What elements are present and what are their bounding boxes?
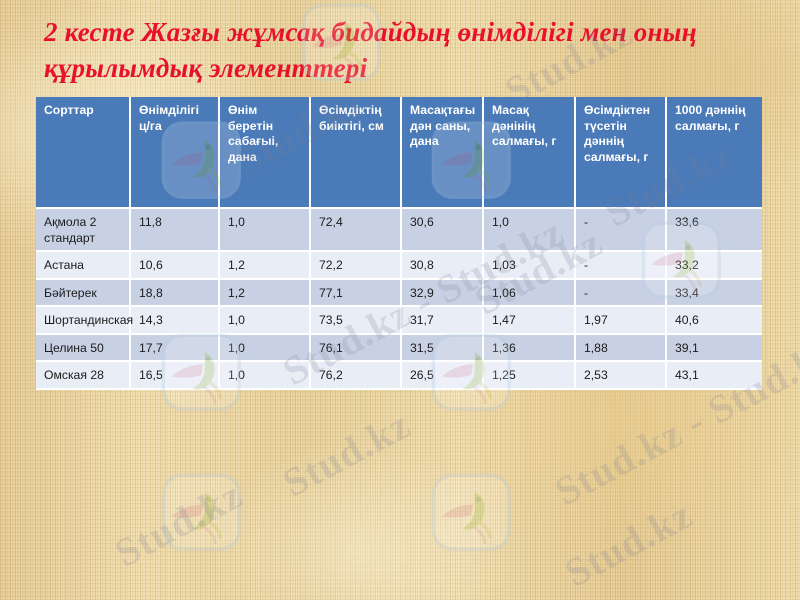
table-cell: 1,06 — [484, 280, 576, 308]
table-body: Ақмола 2 стандарт11,81,072,430,61,0-33,6… — [36, 209, 762, 390]
table-cell: 33,4 — [667, 280, 762, 308]
table-cell: 30,8 — [402, 252, 484, 280]
table-cell: 1,0 — [220, 362, 311, 390]
table-row: Ақмола 2 стандарт11,81,072,430,61,0-33,6 — [36, 209, 762, 252]
column-header-4: Масақтағы дән саны, дана — [402, 97, 484, 209]
table-cell: 76,2 — [311, 362, 402, 390]
cell-variety-name: Астана — [36, 252, 131, 280]
column-header-0: Сорттар — [36, 97, 131, 209]
column-header-2: Өнім беретін сабағыі, дана — [220, 97, 311, 209]
table-cell: 10,6 — [131, 252, 220, 280]
table-cell: 72,2 — [311, 252, 402, 280]
table-cell: 33,2 — [667, 252, 762, 280]
page-title: 2 кесте Жазғы жұмсақ бидайдың өнімділігі… — [44, 14, 764, 86]
table-cell: - — [576, 209, 667, 252]
table-head: СорттарӨнімділігі ц/гаӨнім беретін сабағ… — [36, 97, 762, 209]
table-row: Шортандинская14,31,073,531,71,471,9740,6 — [36, 307, 762, 335]
table-cell: 18,8 — [131, 280, 220, 308]
cell-variety-name: Ақмола 2 стандарт — [36, 209, 131, 252]
table-header-row: СорттарӨнімділігі ц/гаӨнім беретін сабағ… — [36, 97, 762, 209]
table-cell: 11,8 — [131, 209, 220, 252]
table-cell: 32,9 — [402, 280, 484, 308]
cell-variety-name: Шортандинская — [36, 307, 131, 335]
table-row: Целина 5017,71,076,131,51,361,8839,1 — [36, 335, 762, 363]
table-cell: 1,97 — [576, 307, 667, 335]
table-cell: - — [576, 252, 667, 280]
table-row: Астана10,61,272,230,81,03-33,2 — [36, 252, 762, 280]
table-cell: 1,0 — [484, 209, 576, 252]
column-header-5: Масақ дәнінің салмағы, г — [484, 97, 576, 209]
table-cell: 1,03 — [484, 252, 576, 280]
table-cell: 2,53 — [576, 362, 667, 390]
slide-background: 2 кесте Жазғы жұмсақ бидайдың өнімділігі… — [0, 0, 800, 600]
column-header-1: Өнімділігі ц/га — [131, 97, 220, 209]
table-cell: 1,0 — [220, 209, 311, 252]
cell-variety-name: Бәйтерек — [36, 280, 131, 308]
column-header-6: Өсімдіктен түсетін дәннің салмағы, г — [576, 97, 667, 209]
column-header-3: Өсімдіктің биіктігі, см — [311, 97, 402, 209]
table-cell: 1,2 — [220, 252, 311, 280]
table-cell: 17,7 — [131, 335, 220, 363]
cell-variety-name: Целина 50 — [36, 335, 131, 363]
table-cell: 76,1 — [311, 335, 402, 363]
table-row: Бәйтерек18,81,277,132,91,06-33,4 — [36, 280, 762, 308]
table-cell: 33,6 — [667, 209, 762, 252]
table-row: Омская 2816,51,076,226,51,252,5343,1 — [36, 362, 762, 390]
table-cell: 26,5 — [402, 362, 484, 390]
table-cell: - — [576, 280, 667, 308]
table-cell: 1,88 — [576, 335, 667, 363]
table-cell: 1,0 — [220, 335, 311, 363]
table-cell: 43,1 — [667, 362, 762, 390]
table-cell: 31,7 — [402, 307, 484, 335]
table-cell: 73,5 — [311, 307, 402, 335]
table-cell: 1,47 — [484, 307, 576, 335]
data-table-container: СорттарӨнімділігі ц/гаӨнім беретін сабағ… — [36, 97, 762, 573]
table-cell: 39,1 — [667, 335, 762, 363]
table-cell: 1,36 — [484, 335, 576, 363]
table-cell: 30,6 — [402, 209, 484, 252]
column-header-7: 1000 дәннің салмағы, г — [667, 97, 762, 209]
table-cell: 1,0 — [220, 307, 311, 335]
table-cell: 77,1 — [311, 280, 402, 308]
data-table: СорттарӨнімділігі ц/гаӨнім беретін сабағ… — [36, 97, 762, 390]
table-cell: 1,25 — [484, 362, 576, 390]
table-cell: 16,5 — [131, 362, 220, 390]
table-cell: 40,6 — [667, 307, 762, 335]
table-cell: 1,2 — [220, 280, 311, 308]
table-cell: 72,4 — [311, 209, 402, 252]
table-cell: 14,3 — [131, 307, 220, 335]
table-cell: 31,5 — [402, 335, 484, 363]
cell-variety-name: Омская 28 — [36, 362, 131, 390]
